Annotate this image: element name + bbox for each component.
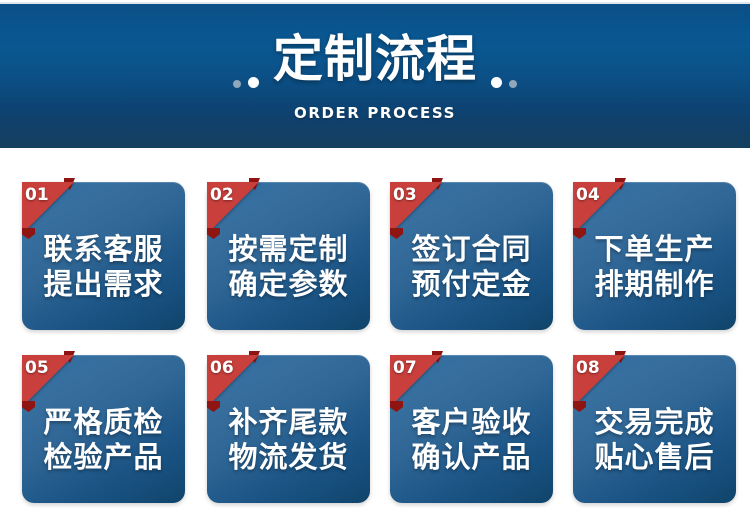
ribbon-shine-icon xyxy=(207,355,259,407)
step-card-01[interactable]: 01 联系客服 提出需求 xyxy=(22,182,185,330)
step-label-line-1: 签订合同 xyxy=(390,232,553,267)
step-card-08[interactable]: 08 交易完成 贴心售后 xyxy=(573,355,736,503)
step-label-line-2: 确定参数 xyxy=(207,267,370,302)
step-label-line-1: 严格质检 xyxy=(22,405,185,440)
ribbon-fold-icon xyxy=(432,351,443,363)
step-number: 06 xyxy=(210,360,234,377)
step-card-07[interactable]: 07 客户验收 确认产品 xyxy=(390,355,553,503)
step-label-line-1: 补齐尾款 xyxy=(207,405,370,440)
step-label-line-1: 联系客服 xyxy=(22,232,185,267)
ribbon-triangle-icon xyxy=(573,182,625,234)
step-number: 05 xyxy=(25,360,49,377)
step-label: 严格质检 检验产品 xyxy=(22,405,185,476)
ribbon-fold-icon xyxy=(615,178,626,190)
steps-row-1: 01 联系客服 提出需求 02 按需定制 确定参数 xyxy=(0,178,750,333)
step-label-line-2: 排期制作 xyxy=(573,267,736,302)
step-number: 07 xyxy=(393,360,417,377)
ribbon-shine-icon xyxy=(22,182,74,234)
step-label: 补齐尾款 物流发货 xyxy=(207,405,370,476)
decorative-dots-left xyxy=(233,26,259,92)
dot-small-left-icon xyxy=(233,80,241,88)
step-label: 下单生产 排期制作 xyxy=(573,232,736,303)
step-label: 交易完成 贴心售后 xyxy=(573,405,736,476)
ribbon-triangle-icon xyxy=(207,182,259,234)
step-card-05[interactable]: 05 严格质检 检验产品 xyxy=(22,355,185,503)
step-label-line-1: 交易完成 xyxy=(573,405,736,440)
step-label: 联系客服 提出需求 xyxy=(22,232,185,303)
dot-large-left-icon xyxy=(248,77,259,88)
page-subtitle: ORDER PROCESS xyxy=(0,104,750,122)
step-label-line-2: 贴心售后 xyxy=(573,440,736,475)
dot-small-right-icon xyxy=(509,80,517,88)
step-card-06[interactable]: 06 补齐尾款 物流发货 xyxy=(207,355,370,503)
step-number: 04 xyxy=(576,187,600,204)
order-process-infographic: 定制流程 ORDER PROCESS 01 联系客 xyxy=(0,0,750,520)
page-title: 定制流程 xyxy=(273,34,477,84)
step-label-line-2: 预付定金 xyxy=(390,267,553,302)
step-label-line-1: 客户验收 xyxy=(390,405,553,440)
ribbon-shine-icon xyxy=(573,182,625,234)
step-label-line-2: 提出需求 xyxy=(22,267,185,302)
dot-large-right-icon xyxy=(491,77,502,88)
ribbon-triangle-icon xyxy=(207,355,259,407)
decorative-dots-right xyxy=(491,26,517,92)
step-label-line-2: 确认产品 xyxy=(390,440,553,475)
step-card-03[interactable]: 03 签订合同 预付定金 xyxy=(390,182,553,330)
step-label: 客户验收 确认产品 xyxy=(390,405,553,476)
ribbon-triangle-icon xyxy=(573,355,625,407)
step-number: 08 xyxy=(576,360,600,377)
ribbon-triangle-icon xyxy=(390,182,442,234)
ribbon-triangle-icon xyxy=(390,355,442,407)
steps-row-2: 05 严格质检 检验产品 06 补齐尾款 物流发货 xyxy=(0,351,750,506)
ribbon-fold-icon xyxy=(249,178,260,190)
step-card-02[interactable]: 02 按需定制 确定参数 xyxy=(207,182,370,330)
ribbon-fold-icon xyxy=(64,351,75,363)
ribbon-shine-icon xyxy=(390,355,442,407)
ribbon-shine-icon xyxy=(22,355,74,407)
header-banner: 定制流程 ORDER PROCESS xyxy=(0,2,750,148)
ribbon-fold-icon xyxy=(249,351,260,363)
ribbon-fold-icon xyxy=(432,178,443,190)
ribbon-fold-icon xyxy=(615,351,626,363)
steps-grid: 01 联系客服 提出需求 02 按需定制 确定参数 xyxy=(0,178,750,506)
step-label: 签订合同 预付定金 xyxy=(390,232,553,303)
step-number: 02 xyxy=(210,187,234,204)
ribbon-fold-icon xyxy=(64,178,75,190)
banner-title-row: 定制流程 xyxy=(0,28,750,90)
ribbon-shine-icon xyxy=(207,182,259,234)
step-label-line-1: 按需定制 xyxy=(207,232,370,267)
ribbon-triangle-icon xyxy=(22,355,74,407)
ribbon-triangle-icon xyxy=(22,182,74,234)
step-number: 03 xyxy=(393,187,417,204)
step-number: 01 xyxy=(25,187,49,204)
ribbon-shine-icon xyxy=(390,182,442,234)
step-card-04[interactable]: 04 下单生产 排期制作 xyxy=(573,182,736,330)
step-label-line-1: 下单生产 xyxy=(573,232,736,267)
ribbon-shine-icon xyxy=(573,355,625,407)
step-label: 按需定制 确定参数 xyxy=(207,232,370,303)
step-label-line-2: 物流发货 xyxy=(207,440,370,475)
step-label-line-2: 检验产品 xyxy=(22,440,185,475)
